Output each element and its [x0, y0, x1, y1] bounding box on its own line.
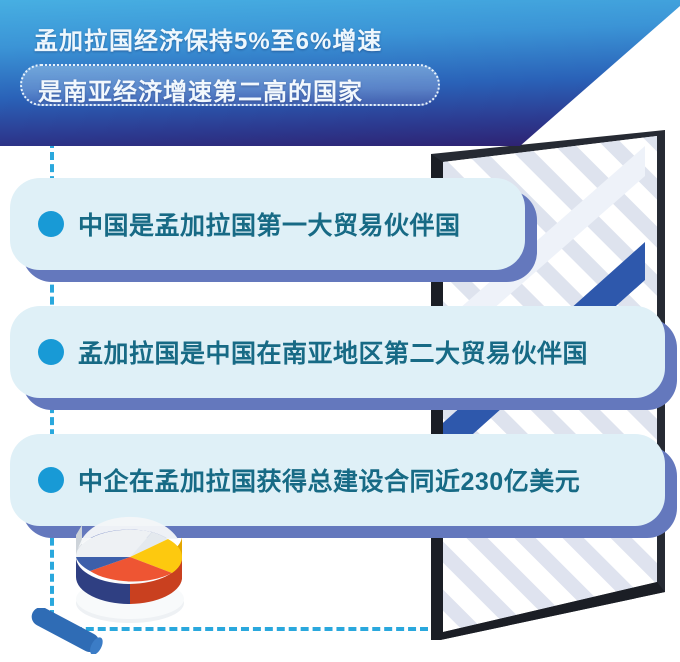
infographic-canvas: 孟加拉国经济保持5%至6%增速 是南亚经济增速第二高的国家 中国是孟加拉国第一大… [0, 0, 680, 662]
point-2-row: 孟加拉国是中国在南亚地区第二大贸易伙伴国 [38, 306, 588, 398]
bullet-dot-icon [38, 467, 64, 493]
point-1-label: 中国是孟加拉国第一大贸易伙伴国 [78, 206, 461, 242]
point-2-label: 孟加拉国是中国在南亚地区第二大贸易伙伴国 [78, 334, 588, 370]
page-title: 孟加拉国经济保持5%至6%增速 [34, 21, 382, 56]
pointer-bar-icon [22, 608, 112, 654]
page-subtitle: 是南亚经济增速第二高的国家 [38, 72, 363, 107]
point-3-label: 中企在孟加拉国获得总建设合同近230亿美元 [78, 462, 580, 498]
point-1-row: 中国是孟加拉国第一大贸易伙伴国 [38, 178, 461, 270]
bullet-dot-icon [38, 339, 64, 365]
bullet-dot-icon [38, 211, 64, 237]
